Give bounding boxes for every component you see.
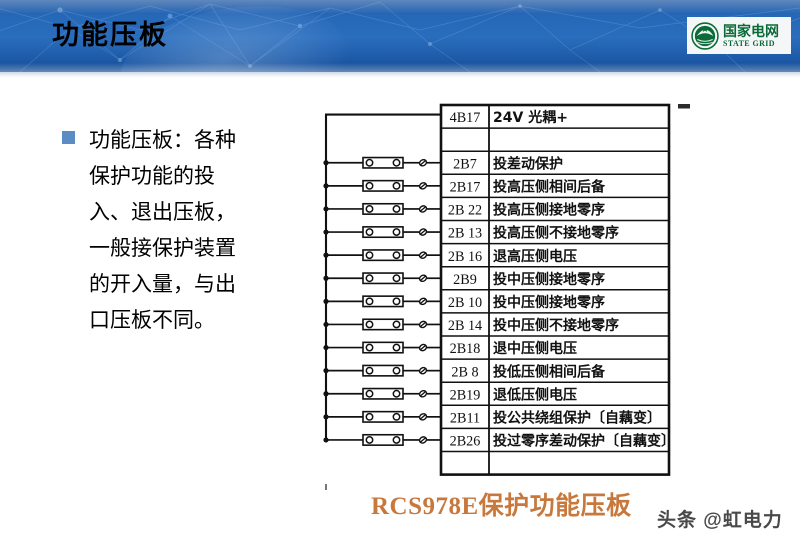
terminal-code-cell: 2B 13 xyxy=(448,226,482,242)
banner-underline xyxy=(0,72,800,78)
terminal-desc-cell: 退低压侧电压 xyxy=(493,386,577,403)
terminal-desc-cell: 退高压侧电压 xyxy=(493,248,577,265)
terminal-code-cell: 2B 10 xyxy=(448,295,482,311)
terminal-code-cell: 2B 22 xyxy=(448,203,482,219)
schematic-canvas: 4B1724V 光耦+2B7投差动保护2B17投高压侧相间后备2B 22投高压侧… xyxy=(310,90,700,490)
state-grid-globe-icon xyxy=(691,22,719,50)
terminal-code-cell: 2B19 xyxy=(450,387,481,403)
terminal-desc-cell: 投高压侧不接地零序 xyxy=(493,225,619,242)
terminal-desc-cell: 投中压侧不接地零序 xyxy=(493,317,619,334)
state-grid-logo: 国家电网 STATE GRID xyxy=(687,17,791,54)
logo-text-cn: 国家电网 xyxy=(723,24,779,38)
corner-dash-mark xyxy=(678,104,690,109)
terminal-desc-cell: 投中压侧接地零序 xyxy=(493,294,605,311)
terminal-code-cell: 2B26 xyxy=(450,434,481,450)
terminal-desc-cell: 投高压侧接地零序 xyxy=(493,202,605,219)
terminal-code-cell: 2B 14 xyxy=(448,318,482,334)
terminal-desc-cell: 投低压侧相间后备 xyxy=(493,363,606,380)
terminal-desc-cell: 投过零序差动保护〔自藕变〕 xyxy=(493,433,675,450)
wiring-schematic: 4B1724V 光耦+2B7投差动保护2B17投高压侧相间后备2B 22投高压侧… xyxy=(310,90,700,490)
page-title: 功能压板 xyxy=(52,18,168,52)
logo-text-en: STATE GRID xyxy=(723,40,779,48)
terminal-desc-cell: 退中压侧电压 xyxy=(493,340,577,357)
watermark-text: 头条 @虹电力 xyxy=(657,505,783,532)
terminal-desc-cell: 投公共绕组保护〔自藕变〕 xyxy=(493,409,661,426)
banner-top-sheen xyxy=(0,0,800,14)
terminal-code-cell: 2B 8 xyxy=(451,364,478,380)
terminal-code-cell: 2B 16 xyxy=(448,249,482,265)
bullet-paragraph-text: 功能压板：各种保护功能的投入、退出压板，一般接保护装置的开入量，与出口压板不同。 xyxy=(89,122,249,338)
terminal-desc-cell: 投中压侧接地零序 xyxy=(493,271,605,288)
bullet-square-icon xyxy=(62,131,75,144)
figure-caption: RCS978E保护功能压板 xyxy=(371,486,632,522)
terminal-code-cell: 2B18 xyxy=(450,341,481,357)
terminal-code-cell: 4B17 xyxy=(450,110,481,126)
terminal-code-cell: 2B17 xyxy=(450,179,481,195)
terminal-desc-cell: 24V 光耦+ xyxy=(493,109,568,126)
terminal-code-cell: 2B9 xyxy=(453,272,477,288)
terminal-code-cell: 2B11 xyxy=(450,410,480,426)
terminal-code-cell: 2B7 xyxy=(453,156,477,172)
banner-bottom-sheen xyxy=(0,63,800,72)
terminal-desc-cell: 投差动保护 xyxy=(493,155,563,172)
terminal-desc-cell: 投高压侧相间后备 xyxy=(493,178,606,195)
bullet-paragraph-block: 功能压板：各种保护功能的投入、退出压板，一般接保护装置的开入量，与出口压板不同。 xyxy=(62,122,262,338)
